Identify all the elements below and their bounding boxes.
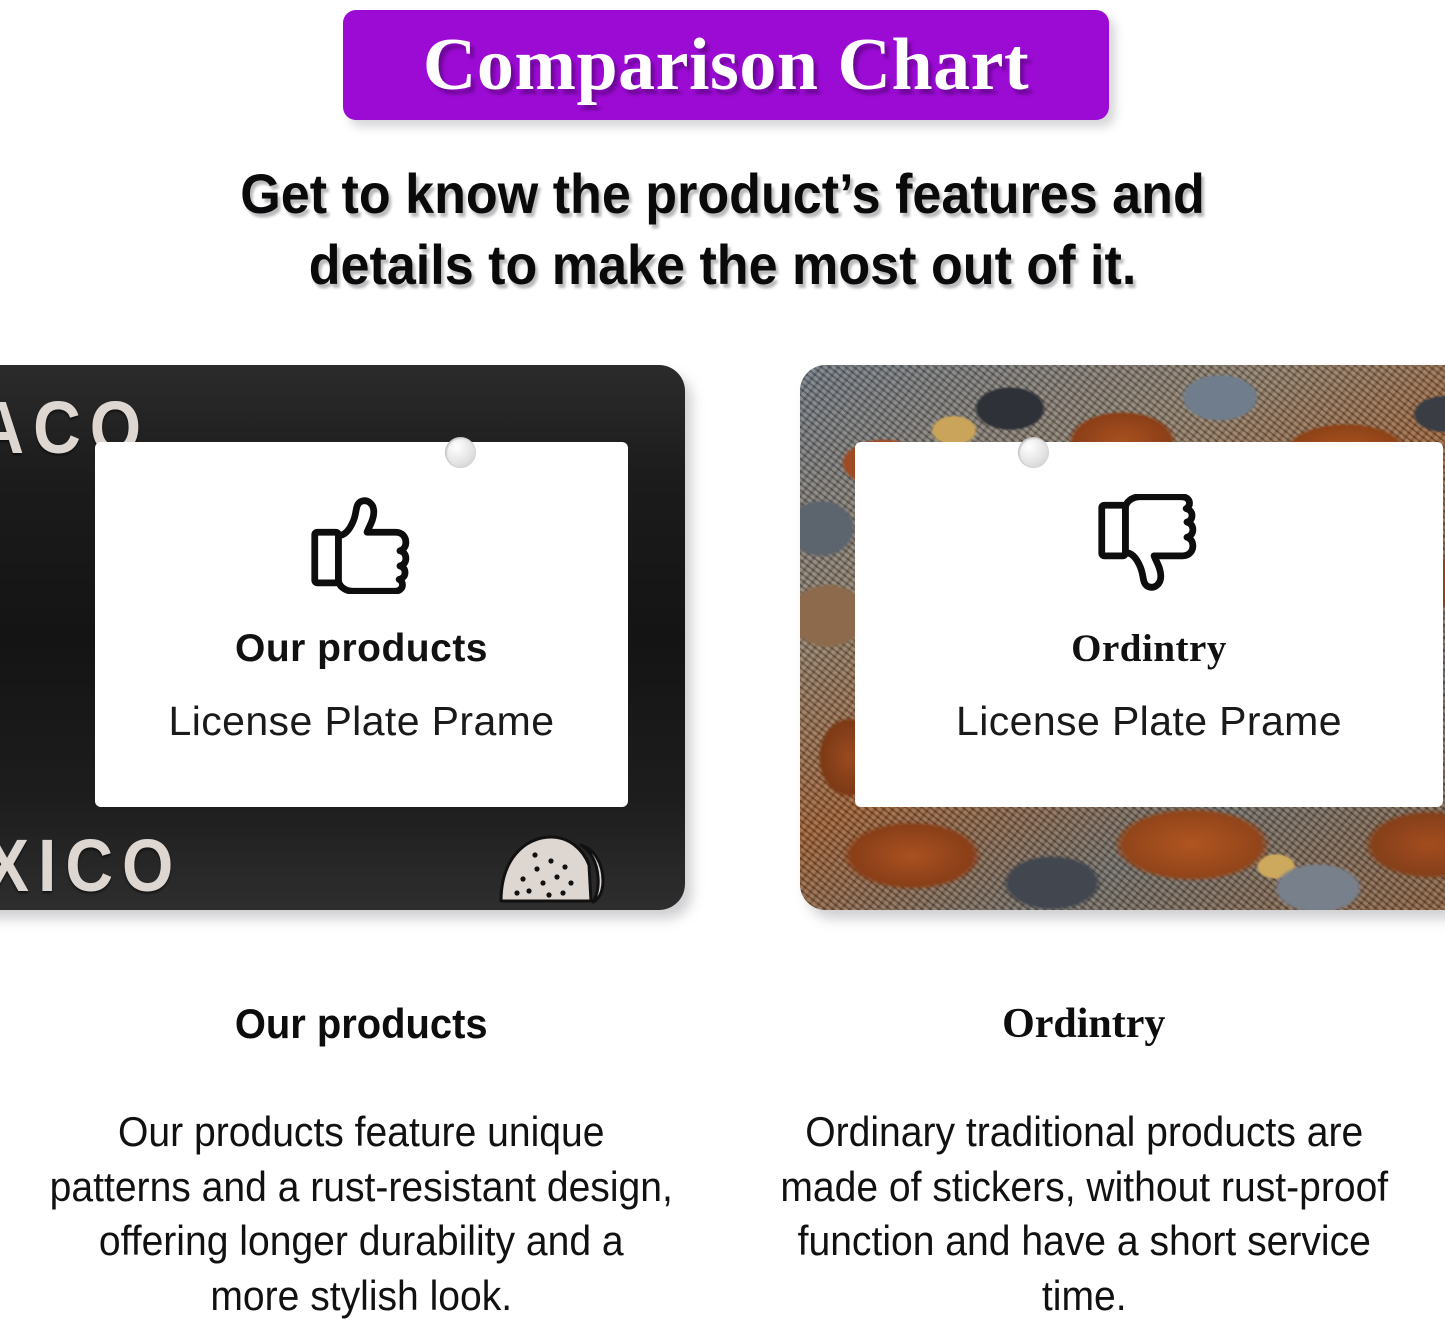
page-title: Comparison Chart [423, 28, 1029, 102]
detail-body-ordinary: Ordinary traditional products are made o… [772, 1105, 1396, 1323]
product-frame-ordinary: Ordintry License Plate Prame [800, 365, 1445, 910]
plate-wordmark-bottom: EXICO [0, 822, 182, 907]
detail-heading-ordinary: Ordintry [749, 1003, 1420, 1045]
comparison-detail-columns: Our products Our products feature unique… [0, 985, 1445, 1315]
plate-label-main-ordinary: Ordintry [855, 629, 1443, 668]
subheading-line-2: details to make the most out of it. [51, 229, 1395, 300]
plate-label-main-ours: Our products [95, 629, 628, 668]
detail-body-ours: Our products feature unique patterns and… [49, 1105, 673, 1323]
detail-heading-ours: Our products [43, 1003, 680, 1045]
plate-window-content-ordinary: Ordintry License Plate Prame [855, 494, 1443, 742]
taco-icon [495, 831, 607, 909]
plate-window-ordinary: Ordintry License Plate Prame [855, 442, 1443, 807]
subheading-line-1: Get to know the product’s features and [51, 158, 1395, 229]
detail-column-ours: Our products Our products feature unique… [0, 985, 723, 1315]
plate-label-sub-ordinary: License Plate Prame [855, 701, 1443, 742]
title-banner: Comparison Chart [343, 10, 1109, 120]
thumbs-up-icon [308, 494, 416, 594]
comparison-frames: TACO EXICO Our products [0, 340, 1445, 930]
plate-label-sub-ours: License Plate Prame [95, 701, 628, 742]
screw-hole [1018, 437, 1049, 468]
plate-window-content-ours: Our products License Plate Prame [95, 494, 628, 742]
thumbs-down-icon [1095, 494, 1203, 594]
title-banner-plate: Comparison Chart [343, 10, 1109, 120]
product-frame-ours: TACO EXICO Our products [0, 365, 685, 910]
plate-window-ours: Our products License Plate Prame [95, 442, 628, 807]
detail-column-ordinary: Ordintry Ordinary traditional products a… [723, 985, 1445, 1315]
subheading: Get to know the product’s features and d… [51, 158, 1395, 300]
screw-hole [445, 437, 476, 468]
